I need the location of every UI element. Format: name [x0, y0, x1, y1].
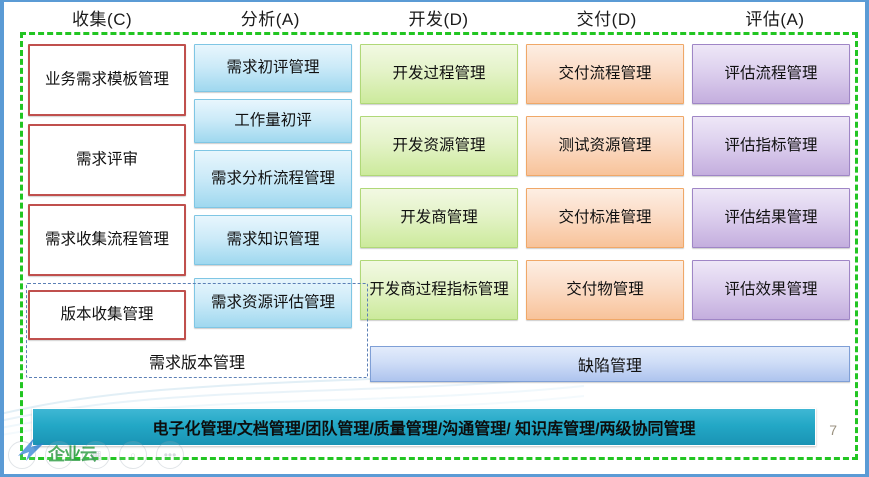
cell-collect-1[interactable]: 需求评审 [28, 124, 186, 196]
cell-evaluation-1[interactable]: 评估指标管理 [692, 116, 850, 176]
cell-analysis-1[interactable]: 工作量初评 [194, 99, 352, 143]
column-development: 开发过程管理 开发资源管理 开发商管理 开发商过程指标管理 [360, 44, 518, 380]
cell-delivery-3[interactable]: 交付物管理 [526, 260, 684, 320]
stage-header-development: 开发(D) [354, 6, 522, 34]
pen-icon[interactable]: ✎ [45, 441, 73, 469]
stage-header-analysis: 分析(A) [186, 6, 354, 34]
page-number: 7 [829, 422, 837, 438]
cell-analysis-0[interactable]: 需求初评管理 [194, 44, 352, 92]
cell-delivery-0[interactable]: 交付流程管理 [526, 44, 684, 104]
stage-header-evaluation: 评估(A) [691, 6, 859, 34]
previous-icon[interactable]: ‹ [8, 441, 36, 469]
cell-evaluation-0[interactable]: 评估流程管理 [692, 44, 850, 104]
cell-delivery-2[interactable]: 交付标准管理 [526, 188, 684, 248]
cell-analysis-2[interactable]: 需求分析流程管理 [194, 150, 352, 208]
cell-delivery-1[interactable]: 测试资源管理 [526, 116, 684, 176]
cell-analysis-3[interactable]: 需求知识管理 [194, 215, 352, 265]
more-icon[interactable]: ••• [156, 441, 184, 469]
cell-collect-2[interactable]: 需求收集流程管理 [28, 204, 186, 276]
column-delivery: 交付流程管理 测试资源管理 交付标准管理 交付物管理 [526, 44, 684, 380]
defect-management-bar[interactable]: 缺陷管理 [370, 346, 850, 382]
stage-header-row: 收集(C) 分析(A) 开发(D) 交付(D) 评估(A) [18, 6, 859, 34]
layout-icon[interactable]: ▦ [82, 441, 110, 469]
viewer-toolbar: ‹ ✎ ▦ ⌕ ••• [8, 438, 228, 472]
cell-development-0[interactable]: 开发过程管理 [360, 44, 518, 104]
cell-development-3[interactable]: 开发商过程指标管理 [360, 260, 518, 320]
zoom-icon[interactable]: ⌕ [119, 441, 147, 469]
cell-development-2[interactable]: 开发商管理 [360, 188, 518, 248]
column-evaluation: 评估流程管理 评估指标管理 评估结果管理 评估效果管理 [692, 44, 850, 380]
stage-header-collect: 收集(C) [18, 6, 186, 34]
cell-collect-0[interactable]: 业务需求模板管理 [28, 44, 186, 116]
version-group-label: 需求版本管理 [26, 347, 368, 375]
cell-development-1[interactable]: 开发资源管理 [360, 116, 518, 176]
cell-evaluation-3[interactable]: 评估效果管理 [692, 260, 850, 320]
slide-canvas: 收集(C) 分析(A) 开发(D) 交付(D) 评估(A) 业务需求模板管理 需… [0, 0, 869, 477]
cell-evaluation-2[interactable]: 评估结果管理 [692, 188, 850, 248]
stage-header-delivery: 交付(D) [523, 6, 691, 34]
